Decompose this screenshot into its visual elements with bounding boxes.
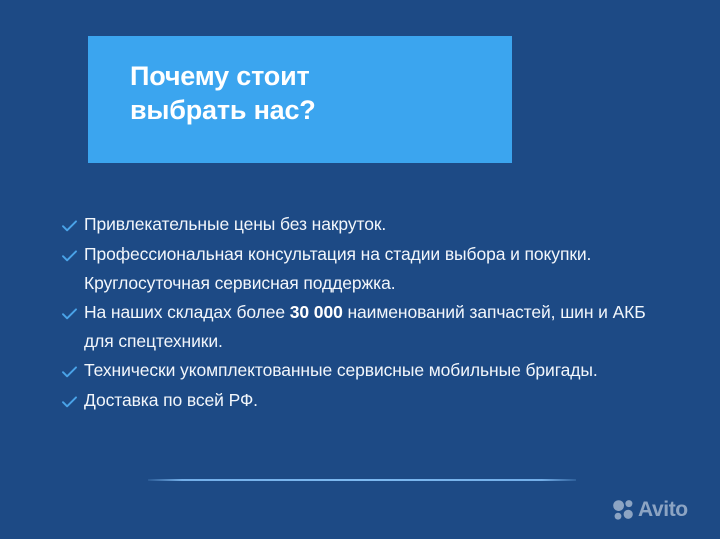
title-banner: Почему стоит выбрать нас? [88,36,512,163]
page-title: Почему стоит выбрать нас? [130,59,316,127]
list-item-label: Технически укомплектованные сервисные мо… [84,356,598,385]
slide-canvas: Почему стоит выбрать нас? Привлекательны… [0,0,720,539]
list-item: Привлекательные цены без накруток. [62,210,672,240]
list-item-label: Доставка по всей РФ. [84,386,258,415]
list-item: Профессиональная консультация на стадии … [62,240,672,298]
check-icon [62,298,84,328]
avito-dots-icon [612,498,635,521]
list-item-label: Профессиональная консультация на стадии … [84,240,662,298]
list-item-label: Привлекательные цены без накруток. [84,210,386,239]
check-icon [62,210,84,240]
avito-watermark: Avito [612,498,688,521]
list-item: Доставка по всей РФ. [62,386,672,416]
list-item: На наших складах более 30 000 наименован… [62,298,672,356]
highlight-count: 30 000 [290,302,343,322]
divider [148,479,576,481]
check-icon [62,240,84,270]
avito-wordmark: Avito [638,499,688,520]
check-icon [62,356,84,386]
check-icon [62,386,84,416]
list-item-label: На наших складах более 30 000 наименован… [84,298,662,356]
list-item: Технически укомплектованные сервисные мо… [62,356,672,386]
benefits-list: Привлекательные цены без накруток. Профе… [62,210,672,416]
